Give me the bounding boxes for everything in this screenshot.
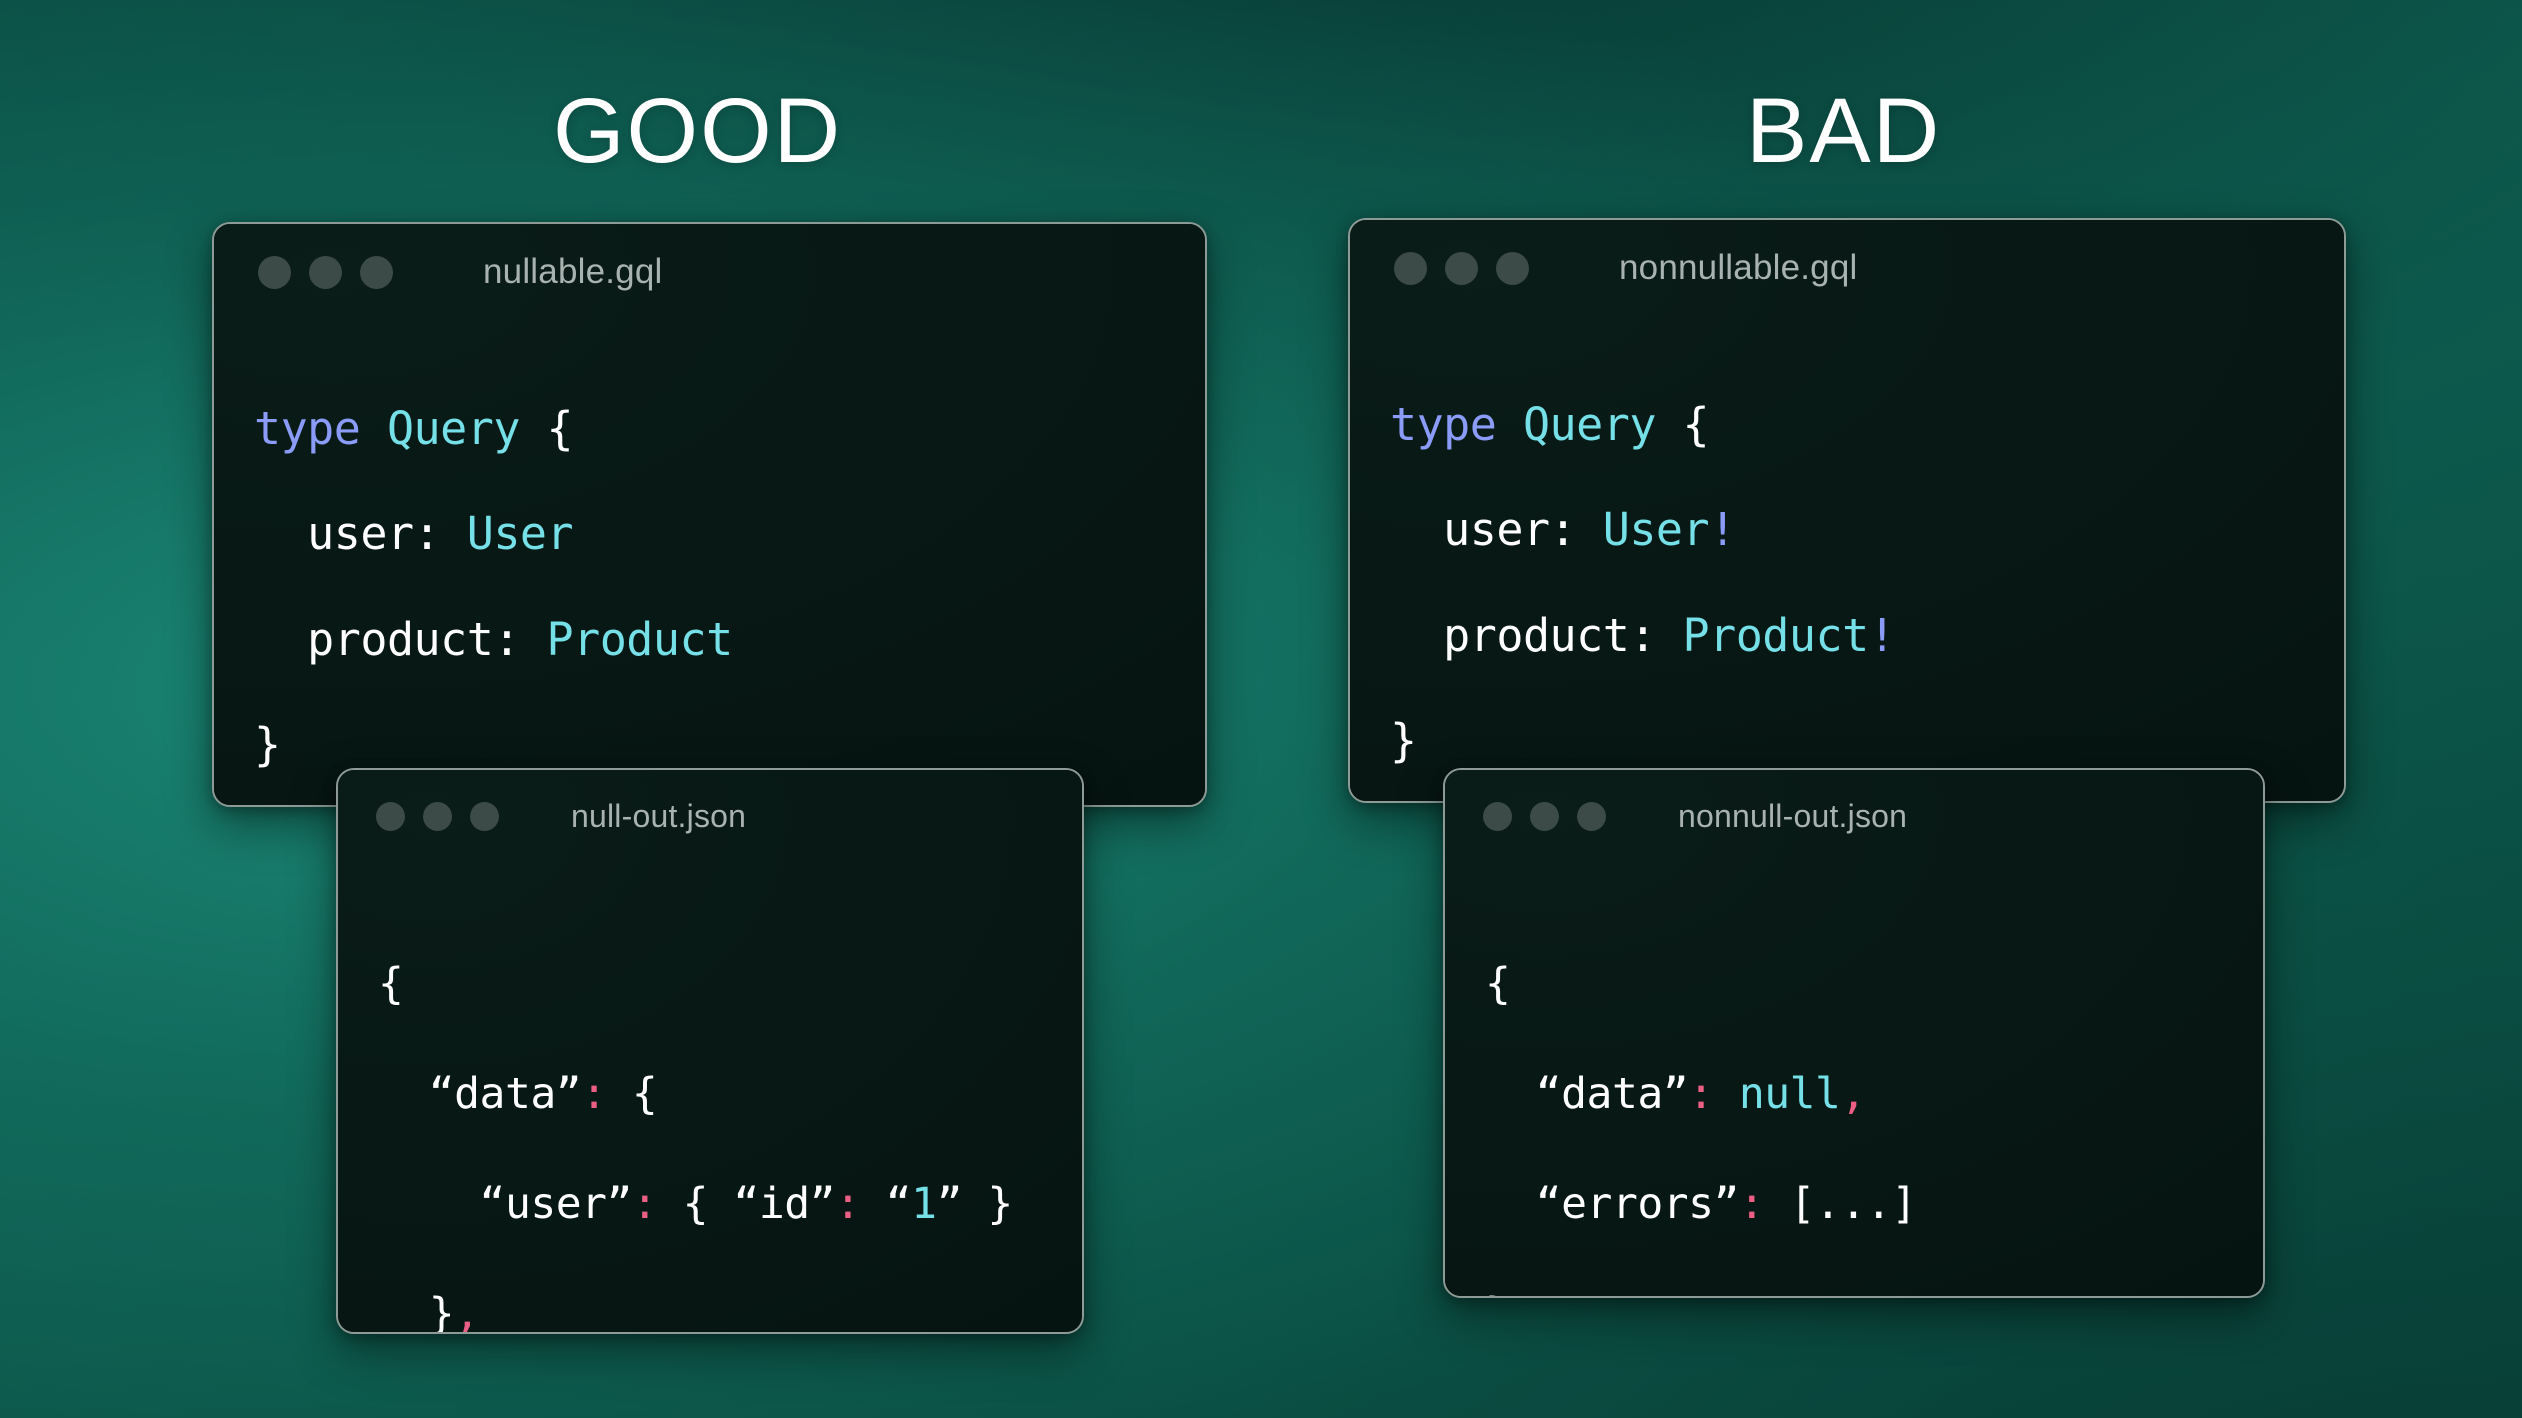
code-token: : <box>1739 1179 1764 1229</box>
code-window-null-out-json: null-out.json { “data”: { “user”: { “id”… <box>336 768 1084 1334</box>
window-dot-red-icon[interactable] <box>1394 252 1427 285</box>
code-block-json-response: { “data”: null, “errors”: [...] } <box>1445 905 2263 1298</box>
window-controls <box>1483 802 1606 831</box>
code-line: type Query { <box>254 403 1165 456</box>
code-token: : <box>632 1179 657 1229</box>
code-token: : <box>835 1179 860 1229</box>
code-token: type <box>254 402 387 455</box>
code-token: { <box>1485 959 1510 1009</box>
code-token: : <box>581 1069 606 1119</box>
column-heading-good: GOOD <box>553 85 842 177</box>
code-token: , <box>454 1289 479 1334</box>
window-dot-yellow-icon[interactable] <box>309 256 342 289</box>
code-block-json-response: { “data”: { “user”: { “id”: “1” } }, “er… <box>338 905 1082 1334</box>
code-window-nonnullable-gql: nonnullable.gql type Query { user: User!… <box>1348 218 2346 803</box>
code-token: Product <box>547 613 733 666</box>
window-controls <box>258 256 393 289</box>
code-token: } <box>1485 1289 1510 1298</box>
code-token: “errors” <box>1485 1179 1739 1229</box>
code-window-surface: nonnullable.gql type Query { user: User!… <box>1350 220 2344 801</box>
window-dot-green-icon[interactable] <box>470 802 499 831</box>
code-line: product: Product <box>254 614 1165 667</box>
window-dot-yellow-icon[interactable] <box>423 802 452 831</box>
code-token: product: <box>254 613 547 666</box>
code-line: { <box>378 957 1042 1012</box>
code-token: null <box>1739 1069 1841 1119</box>
window-dot-red-icon[interactable] <box>258 256 291 289</box>
code-token: ” } <box>937 1179 1013 1229</box>
code-line: “data”: { <box>378 1067 1042 1122</box>
window-dot-red-icon[interactable] <box>1483 802 1512 831</box>
code-line: }, <box>378 1287 1042 1334</box>
window-titlebar: null-out.json <box>338 770 1082 862</box>
code-token: } <box>1390 714 1417 767</box>
window-filename: nullable.gql <box>483 252 663 292</box>
window-dot-green-icon[interactable] <box>1577 802 1606 831</box>
window-filename: nonnullable.gql <box>1619 248 1857 288</box>
code-token: “ <box>860 1179 911 1229</box>
code-token: : <box>1688 1069 1713 1119</box>
column-heading-bad: BAD <box>1746 85 1941 177</box>
code-token: } <box>378 1289 454 1334</box>
code-token: “data” <box>378 1069 581 1119</box>
code-block-graphql-schema: type Query { user: User! product: Produc… <box>1350 361 2344 797</box>
window-titlebar: nullable.gql <box>214 224 1205 320</box>
code-token: Product <box>1683 609 1869 662</box>
window-titlebar: nonnullable.gql <box>1350 220 2344 316</box>
code-token: { <box>378 959 403 1009</box>
code-token: 1 <box>911 1179 936 1229</box>
code-token: { “id” <box>657 1179 835 1229</box>
code-token <box>1714 1069 1739 1119</box>
code-token: user: <box>254 507 467 560</box>
code-line: “user”: { “id”: “1” } <box>378 1177 1042 1232</box>
code-line: product: Product! <box>1390 610 2304 663</box>
code-token: [...] <box>1764 1179 1916 1229</box>
code-token: { <box>607 1069 658 1119</box>
code-block-graphql-schema: type Query { user: User product: Product… <box>214 365 1205 801</box>
slide-canvas: GOOD nullable.gql type Query { user: Use… <box>0 0 2522 1418</box>
code-token: { <box>1656 398 1709 451</box>
window-dot-yellow-icon[interactable] <box>1445 252 1478 285</box>
window-filename: nonnull-out.json <box>1678 798 1907 835</box>
code-window-nonnull-out-json: nonnull-out.json { “data”: null, “errors… <box>1443 768 2265 1298</box>
window-dot-yellow-icon[interactable] <box>1530 802 1559 831</box>
code-line: { <box>1485 957 2223 1012</box>
code-token: Query <box>387 402 520 455</box>
window-titlebar: nonnull-out.json <box>1445 770 2263 862</box>
code-window-surface: null-out.json { “data”: { “user”: { “id”… <box>338 770 1082 1332</box>
code-line: } <box>1390 715 2304 768</box>
window-controls <box>376 802 499 831</box>
code-token: User <box>1603 503 1709 556</box>
window-controls <box>1394 252 1529 285</box>
code-line: } <box>254 719 1165 772</box>
code-token: ! <box>1709 503 1736 556</box>
code-window-nullable-gql: nullable.gql type Query { user: User pro… <box>212 222 1207 807</box>
window-dot-green-icon[interactable] <box>1496 252 1529 285</box>
code-token: user: <box>1390 503 1603 556</box>
code-token: product: <box>1390 609 1683 662</box>
code-token: } <box>254 718 281 771</box>
code-line: “errors”: [...] <box>1485 1177 2223 1232</box>
code-line: user: User! <box>1390 504 2304 557</box>
code-token: “user” <box>378 1179 632 1229</box>
code-line: “data”: null, <box>1485 1067 2223 1122</box>
window-dot-green-icon[interactable] <box>360 256 393 289</box>
window-filename: null-out.json <box>571 798 746 835</box>
code-token: { <box>520 402 573 455</box>
code-window-surface: nonnull-out.json { “data”: null, “errors… <box>1445 770 2263 1296</box>
code-token: User <box>467 507 573 560</box>
code-token: ! <box>1869 609 1896 662</box>
code-line: } <box>1485 1287 2223 1298</box>
code-line: type Query { <box>1390 399 2304 452</box>
window-dot-red-icon[interactable] <box>376 802 405 831</box>
code-window-surface: nullable.gql type Query { user: User pro… <box>214 224 1205 805</box>
code-token: type <box>1390 398 1523 451</box>
code-token: Query <box>1523 398 1656 451</box>
code-line: user: User <box>254 508 1165 561</box>
code-token: , <box>1840 1069 1865 1119</box>
code-token: “data” <box>1485 1069 1688 1119</box>
